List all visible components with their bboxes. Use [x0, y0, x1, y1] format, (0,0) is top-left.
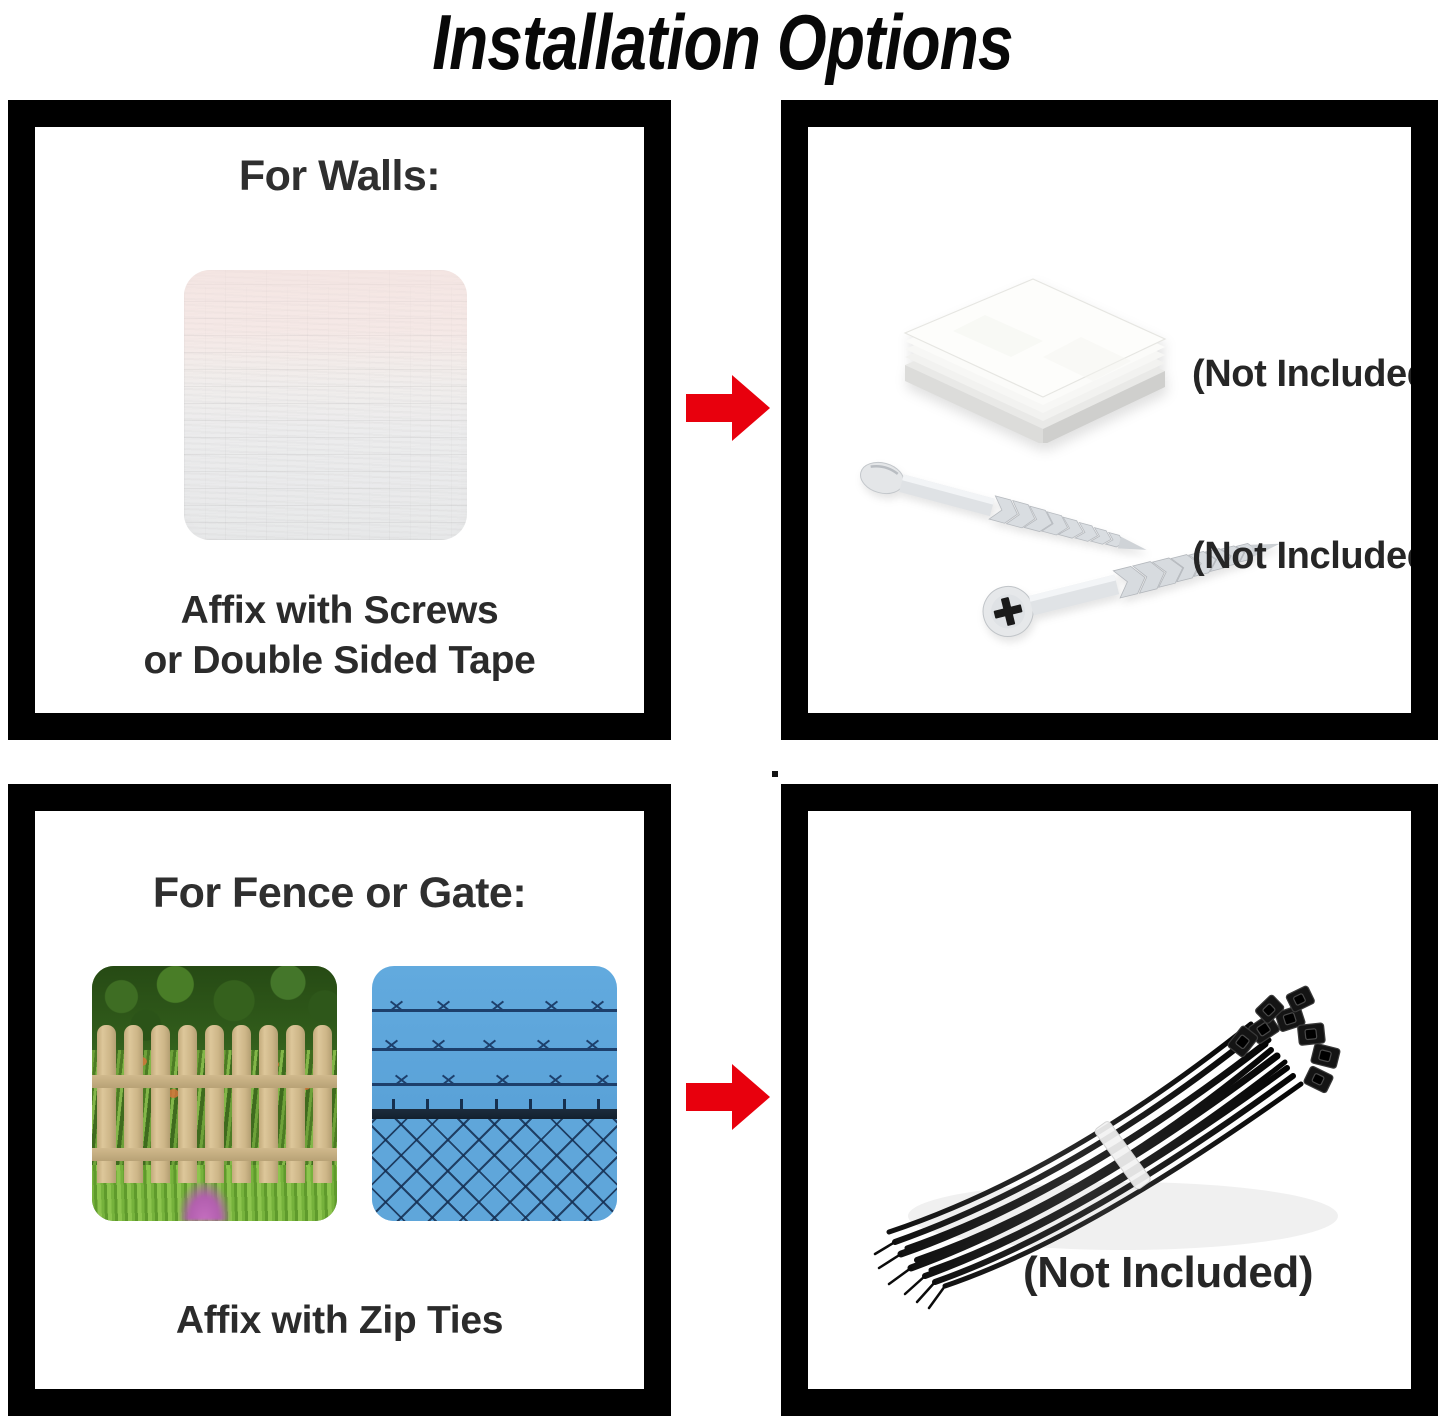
fence-rail-upper — [92, 1075, 337, 1088]
for-fence-heading: For Fence or Gate: — [35, 868, 644, 918]
zip-ties-not-included-label: (Not Included) — [1023, 1251, 1313, 1295]
image-artifact-dot — [772, 771, 778, 777]
panel-hardware: (Not Included) — [781, 100, 1438, 740]
fence-rail-lower — [92, 1148, 337, 1161]
screws-not-included-label: (Not Included) — [1192, 534, 1411, 578]
for-fence-caption-line1: Affix with Zip Ties — [176, 1299, 503, 1342]
panel-for-walls: For Walls: Affix with Screws or Double S… — [8, 100, 671, 740]
arrow-walls-to-hardware-icon — [684, 372, 772, 444]
double-sided-tape-stack-image — [893, 253, 1173, 443]
panel-zip-ties: (Not Included) — [781, 784, 1438, 1416]
for-fence-caption: Affix with Zip Ties — [35, 1296, 644, 1346]
for-walls-heading: For Walls: — [35, 151, 644, 201]
purple-path — [180, 1183, 229, 1221]
white-brick-wall-image — [184, 270, 467, 540]
chain-link-mesh — [372, 1119, 617, 1221]
panel-for-fence-or-gate: For Fence or Gate: — [8, 784, 671, 1416]
page-title: Installation Options — [130, 0, 1315, 88]
for-walls-caption-line1: Affix with Screws — [181, 589, 499, 632]
for-walls-caption: Affix with Screws or Double Sided Tape — [35, 586, 644, 686]
for-walls-caption-line2: or Double Sided Tape — [35, 636, 644, 686]
arrow-fence-to-zipties-icon — [684, 1061, 772, 1133]
fence-pickets — [92, 1025, 337, 1183]
chain-link-fence-photo — [372, 966, 617, 1221]
wall-pink-tint — [184, 270, 467, 389]
picket-fence-photo — [92, 966, 337, 1221]
tape-not-included-label: (Not Included) — [1192, 352, 1411, 396]
